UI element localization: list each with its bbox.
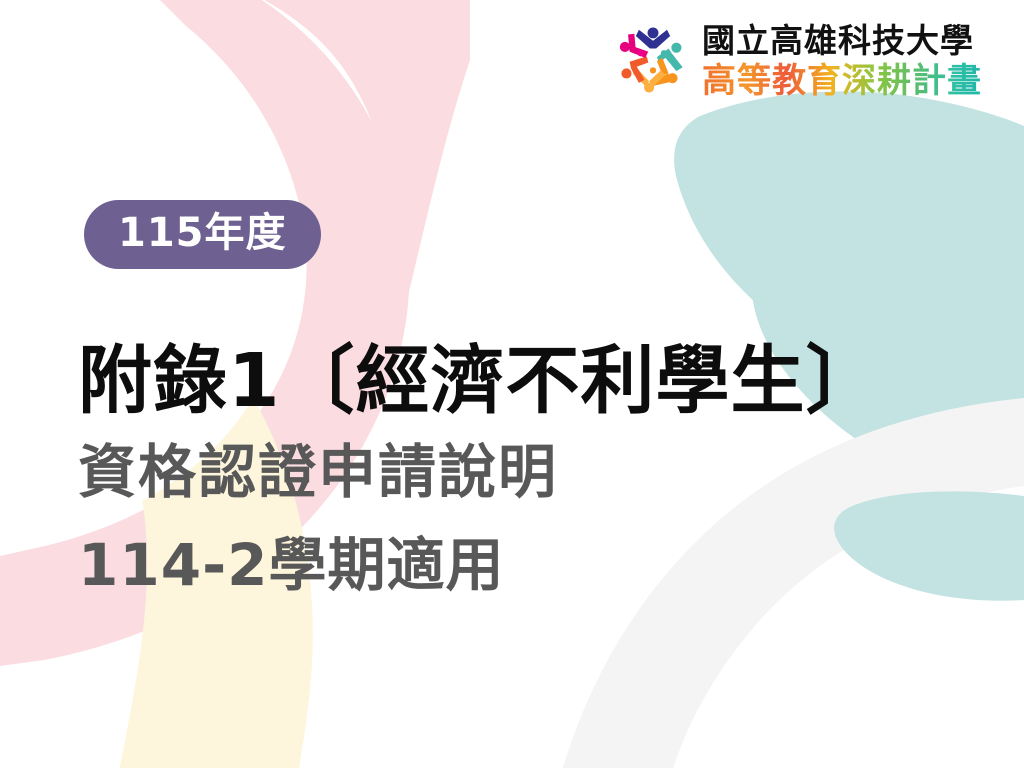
page-title: 附錄1〔經濟不利學生〕 [78,340,881,423]
logo-text-block: 國立高雄科技大學 高等教育深耕計畫 [702,24,1002,99]
people-circle-icon [614,22,692,100]
subtitle-primary: 資格認證申請說明 [78,439,881,506]
program-name: 高等教育深耕計畫 [702,61,1002,99]
nkust-logo: 國立高雄科技大學 高等教育深耕計畫 [614,22,1002,100]
title-block: 附錄1〔經濟不利學生〕 資格認證申請說明 114-2學期適用 [78,340,881,598]
year-badge: 115年度 [84,200,321,269]
program-name-text: 高等教育深耕計畫 [702,61,982,99]
subtitle-secondary: 114-2學期適用 [78,532,881,599]
university-name: 國立高雄科技大學 [702,24,1002,57]
slide-canvas: 國立高雄科技大學 高等教育深耕計畫 11 [0,0,1024,768]
